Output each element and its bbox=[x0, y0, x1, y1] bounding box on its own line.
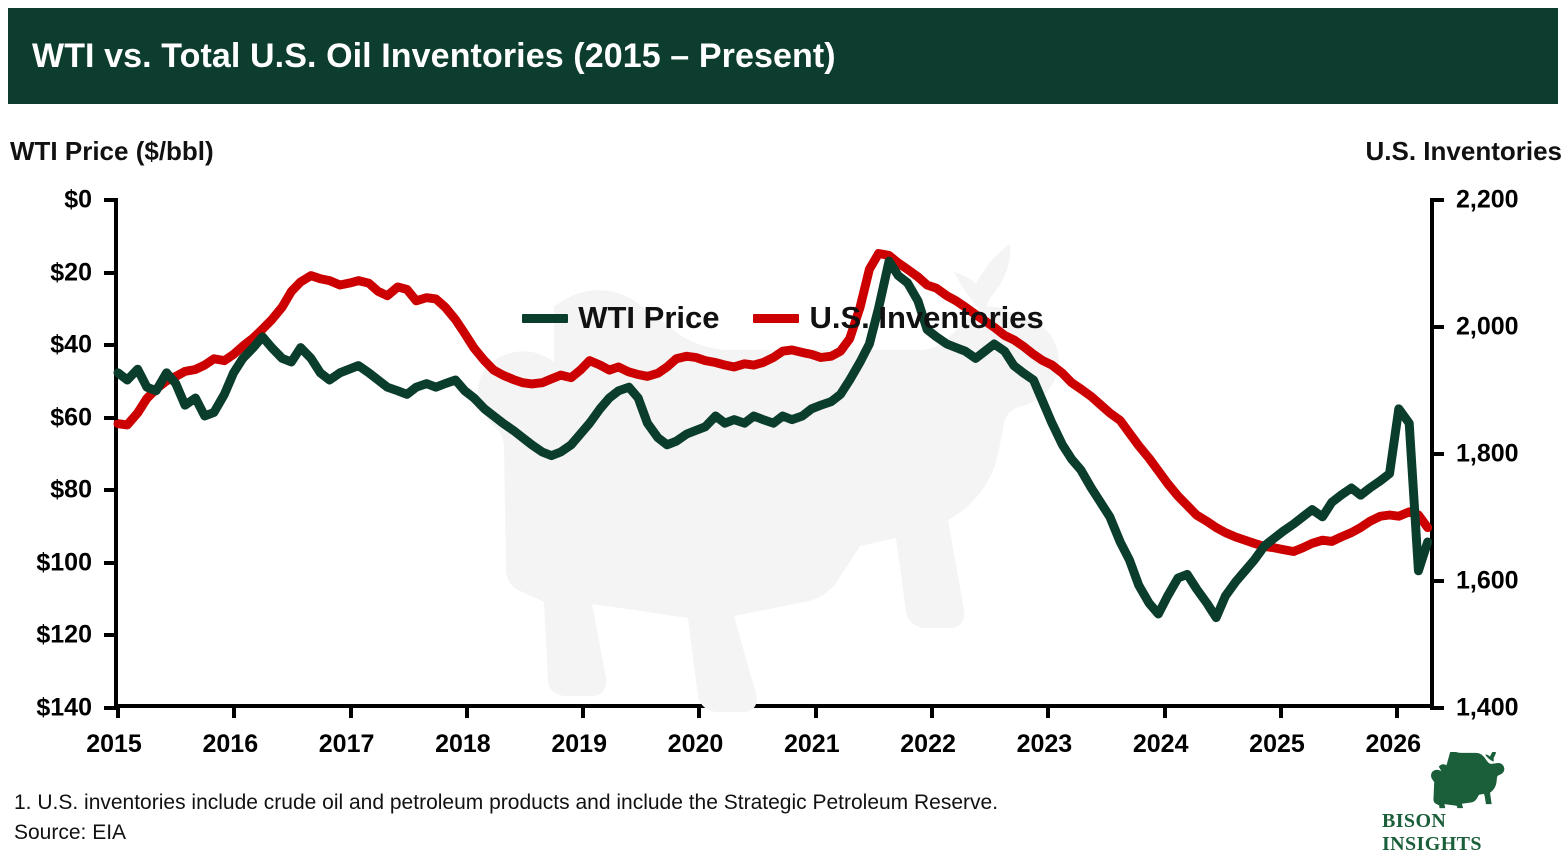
x-tick-2019 bbox=[581, 704, 585, 718]
bison-icon bbox=[1411, 752, 1521, 809]
x-tick-2015 bbox=[116, 704, 120, 718]
left-tick-2 bbox=[104, 343, 118, 347]
x-tick-2023 bbox=[1046, 704, 1050, 718]
x-tick-2017 bbox=[349, 704, 353, 718]
right-axis-label: 2,000 bbox=[1456, 313, 1519, 342]
x-tick-2016 bbox=[232, 704, 236, 718]
x-axis-label: 2016 bbox=[202, 730, 258, 759]
x-tick-2020 bbox=[697, 704, 701, 718]
plot-frame bbox=[114, 200, 1434, 708]
page-title: WTI vs. Total U.S. Oil Inventories (2015… bbox=[32, 37, 836, 76]
right-tick-1 bbox=[1430, 325, 1444, 329]
line-wti-price bbox=[118, 261, 1428, 617]
x-axis-label: 2019 bbox=[551, 730, 607, 759]
left-axis-label: $140 bbox=[36, 694, 92, 723]
x-axis-label: 2022 bbox=[900, 730, 956, 759]
x-axis-label: 2015 bbox=[86, 730, 142, 759]
right-axis-label: 2,200 bbox=[1456, 186, 1519, 215]
plot-canvas bbox=[118, 200, 1430, 704]
left-axis-label: $80 bbox=[50, 476, 92, 505]
left-axis-label: $100 bbox=[36, 548, 92, 577]
x-axis-label: 2017 bbox=[319, 730, 375, 759]
right-tick-3 bbox=[1430, 579, 1444, 583]
right-axis-label: 1,600 bbox=[1456, 567, 1519, 596]
left-tick-5 bbox=[104, 561, 118, 565]
left-axis-label: $60 bbox=[50, 403, 92, 432]
x-axis-label: 2021 bbox=[784, 730, 840, 759]
right-tick-0 bbox=[1430, 198, 1444, 202]
series-lines bbox=[118, 200, 1430, 704]
x-axis-label: 2024 bbox=[1133, 730, 1189, 759]
header-bar: WTI vs. Total U.S. Oil Inventories (2015… bbox=[8, 8, 1558, 104]
right-tick-4 bbox=[1430, 706, 1444, 710]
left-axis-label: $0 bbox=[64, 186, 92, 215]
brand-logo: BISON INSIGHTS bbox=[1382, 752, 1550, 856]
left-tick-0 bbox=[104, 198, 118, 202]
right-axis-label: 1,800 bbox=[1456, 440, 1519, 469]
x-tick-2025 bbox=[1279, 704, 1283, 718]
x-tick-2021 bbox=[814, 704, 818, 718]
line-us-inventories bbox=[118, 254, 1428, 552]
source-text: Source: EIA bbox=[14, 818, 1344, 848]
x-tick-2024 bbox=[1163, 704, 1167, 718]
left-tick-1 bbox=[104, 271, 118, 275]
x-axis-label: 2023 bbox=[1017, 730, 1073, 759]
x-tick-2026 bbox=[1395, 704, 1399, 718]
left-tick-4 bbox=[104, 488, 118, 492]
left-tick-6 bbox=[104, 633, 118, 637]
right-tick-2 bbox=[1430, 452, 1444, 456]
x-axis-label: 2025 bbox=[1249, 730, 1305, 759]
left-axis-label: $120 bbox=[36, 621, 92, 650]
x-tick-2018 bbox=[465, 704, 469, 718]
right-axis-label: 1,400 bbox=[1456, 694, 1519, 723]
left-tick-3 bbox=[104, 416, 118, 420]
footnote-text: 1. U.S. inventories include crude oil an… bbox=[14, 788, 1344, 818]
x-axis-label: 2020 bbox=[668, 730, 724, 759]
x-tick-2022 bbox=[930, 704, 934, 718]
footnotes: 1. U.S. inventories include crude oil an… bbox=[14, 788, 1344, 848]
x-axis-label: 2018 bbox=[435, 730, 491, 759]
left-axis-label: $20 bbox=[50, 258, 92, 287]
chart-area: $0$20$40$60$80$100$120$140 2,2002,0001,8… bbox=[0, 120, 1566, 720]
logo-text: BISON INSIGHTS bbox=[1382, 810, 1550, 856]
left-axis-label: $40 bbox=[50, 331, 92, 360]
